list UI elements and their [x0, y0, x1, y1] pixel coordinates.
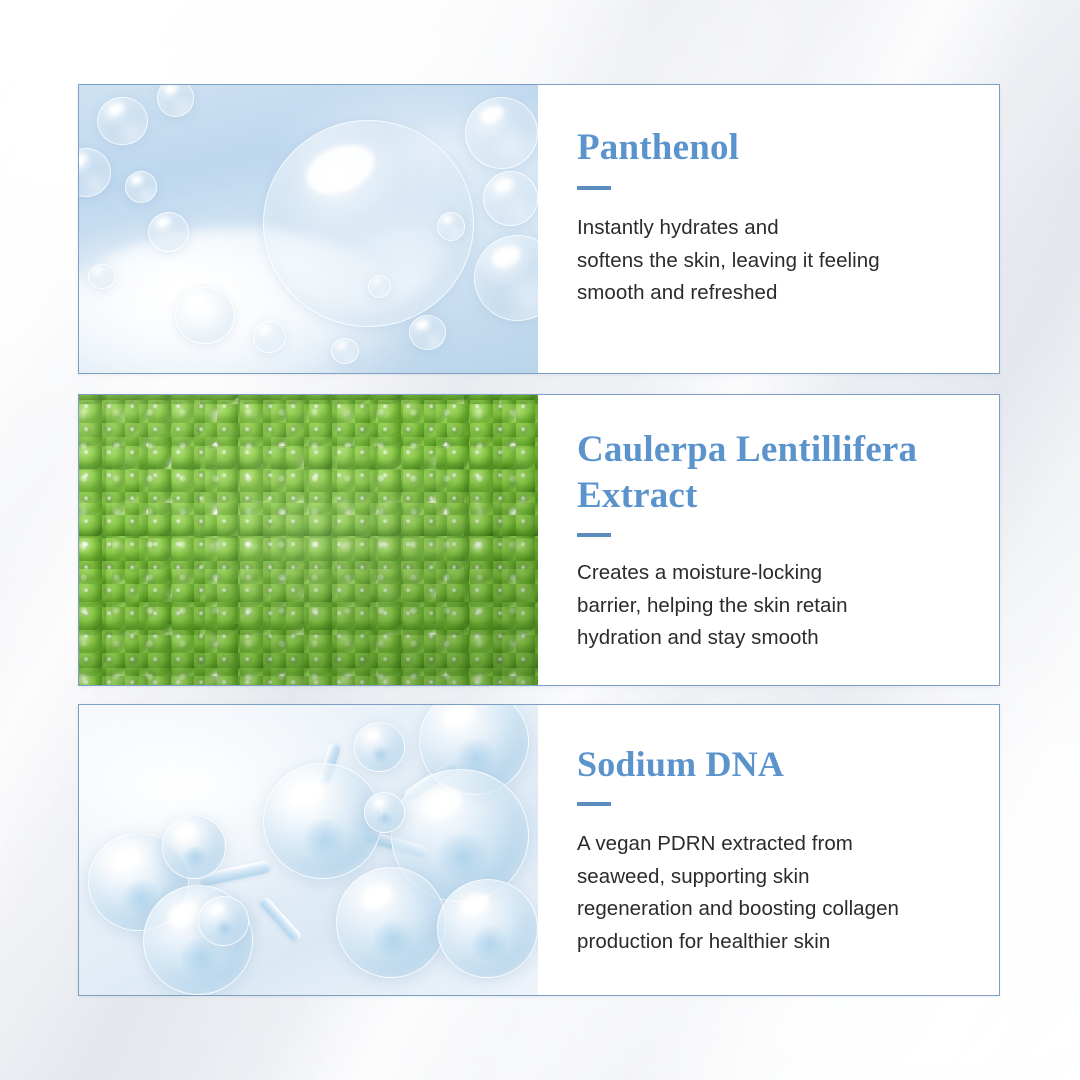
water-bubbles-photo — [79, 85, 538, 373]
ingredient-card-list: Panthenol Instantly hydrates and softens… — [78, 84, 1000, 996]
bubble-small — [253, 321, 285, 353]
ingredient-title: Sodium DNA — [577, 741, 969, 787]
bubble-small — [125, 171, 157, 203]
bubble-medium — [474, 235, 538, 321]
bubble-small — [88, 264, 116, 290]
molecule-spheres-photo — [79, 705, 538, 995]
sea-grape-shading — [79, 395, 538, 685]
ingredient-title: Caulerpa Lentillifera Extract — [577, 427, 969, 519]
molecule-sphere — [364, 792, 405, 833]
ingredient-title: Panthenol — [577, 125, 969, 171]
accent-rule — [577, 533, 611, 537]
bubble-medium — [465, 97, 538, 169]
molecule-sphere — [162, 815, 226, 879]
molecule-sphere — [263, 763, 382, 879]
molecule-bond — [258, 895, 303, 943]
accent-rule — [577, 802, 611, 806]
ingredient-card-panthenol: Panthenol Instantly hydrates and softens… — [78, 84, 1000, 374]
sea-grapes-photo — [79, 395, 538, 685]
bubble-small — [175, 287, 235, 345]
bubble-small — [148, 212, 189, 252]
bubble-small — [79, 148, 111, 197]
bubble-small — [97, 97, 147, 146]
molecule-sphere — [354, 722, 404, 771]
ingredient-description: Creates a moisture-locking barrier, help… — [577, 557, 969, 655]
bubble-medium — [483, 171, 538, 226]
ingredient-text-panel: Panthenol Instantly hydrates and softens… — [538, 85, 999, 373]
ingredient-card-caulerpa-lentillifera-extract: Caulerpa Lentillifera Extract Creates a … — [78, 394, 1000, 686]
bubble-small — [157, 85, 194, 117]
molecule-sphere — [198, 896, 248, 945]
ingredient-card-sodium-dna: Sodium DNA A vegan PDRN extracted from s… — [78, 704, 1000, 996]
ingredient-description: A vegan PDRN extracted from seaweed, sup… — [577, 828, 969, 958]
accent-rule — [577, 186, 611, 190]
bubble-small — [331, 338, 359, 364]
bubble-small — [409, 315, 446, 350]
ingredient-text-panel: Sodium DNA A vegan PDRN extracted from s… — [538, 705, 999, 995]
molecule-sphere — [336, 867, 446, 977]
bubble-small — [437, 212, 465, 241]
ingredient-description: Instantly hydrates and softens the skin,… — [577, 212, 969, 310]
ingredient-text-panel: Caulerpa Lentillifera Extract Creates a … — [538, 395, 999, 685]
molecule-sphere — [437, 879, 538, 978]
